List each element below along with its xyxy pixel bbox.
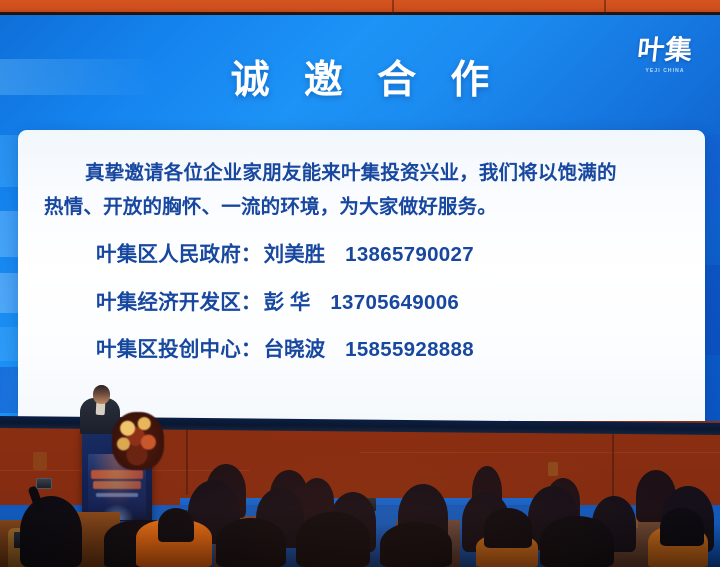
- podium-placard-caption: [96, 493, 138, 497]
- audience-person: [540, 516, 614, 567]
- brand-subtitle-text: YEJI CHINA: [626, 68, 704, 74]
- slide-content-card: 真挚邀请各位企业家朋友能来叶集投资兴业，我们将以饱满的 热情、开放的胸怀、一流的…: [18, 130, 705, 421]
- contact-name: 彭 华: [264, 291, 311, 314]
- contact-phone: 13705649006: [330, 291, 459, 314]
- wall-panel-line: [360, 452, 720, 453]
- contact-name: 台晓波: [264, 338, 326, 361]
- audience-head: [660, 508, 704, 546]
- projection-screen: 诚 邀 合 作 叶集 YEJI CHINA 真挚邀请各位企业家朋友能来叶集投资兴…: [0, 15, 720, 421]
- wall-seam: [186, 425, 188, 495]
- wall-seam: [604, 0, 606, 15]
- contact-org: 叶集区投创中心：: [96, 338, 262, 361]
- contact-row: 叶集区人民政府：刘美胜13865790027: [96, 245, 679, 266]
- flower-arrangement: [112, 412, 164, 470]
- audience-head: [484, 508, 532, 548]
- contact-org: 叶集区人民政府：: [96, 243, 262, 266]
- contact-org: 叶集经济开发区：: [96, 291, 262, 314]
- audience-person: [296, 512, 370, 567]
- audience-person: [216, 518, 286, 567]
- speaker-head: [93, 385, 110, 404]
- yeji-brand-logo: 叶集 YEJI CHINA: [626, 37, 704, 99]
- wall-seam: [612, 425, 614, 505]
- contact-list: 叶集区人民政府：刘美胜13865790027 叶集经济开发区：彭 华137056…: [44, 245, 679, 361]
- wall-seam: [392, 0, 394, 15]
- contact-row: 叶集区投创中心：台晓波15855928888: [96, 340, 679, 361]
- invitation-paragraph: 真挚邀请各位企业家朋友能来叶集投资兴业，我们将以饱满的 热情、开放的胸怀、一流的…: [44, 156, 679, 224]
- invitation-line-2: 热情、开放的胸怀、一流的环境，为大家做好服务。: [44, 196, 497, 218]
- wall-marker: [548, 462, 558, 476]
- podium-placard-headline: [91, 470, 143, 479]
- podium-placard-subline: [93, 481, 141, 489]
- audience-person: [20, 496, 82, 567]
- brand-mark-text: 叶集: [625, 37, 706, 64]
- audience-person: [380, 522, 452, 567]
- audience-head: [158, 508, 194, 542]
- conference-photo-scene: 诚 邀 合 作 叶集 YEJI CHINA 真挚邀请各位企业家朋友能来叶集投资兴…: [0, 0, 720, 567]
- contact-phone: 13865790027: [345, 243, 474, 266]
- slide-title: 诚 邀 合 作: [0, 61, 720, 100]
- contact-phone: 15855928888: [345, 338, 474, 361]
- contact-name: 刘美胜: [264, 243, 326, 266]
- smartphone-camera: [36, 478, 52, 489]
- wall-outlet: [33, 452, 47, 470]
- invitation-line-1: 真挚邀请各位企业家朋友能来叶集投资兴业，我们将以饱满的: [44, 162, 617, 184]
- contact-row: 叶集经济开发区：彭 华13705649006: [96, 293, 679, 314]
